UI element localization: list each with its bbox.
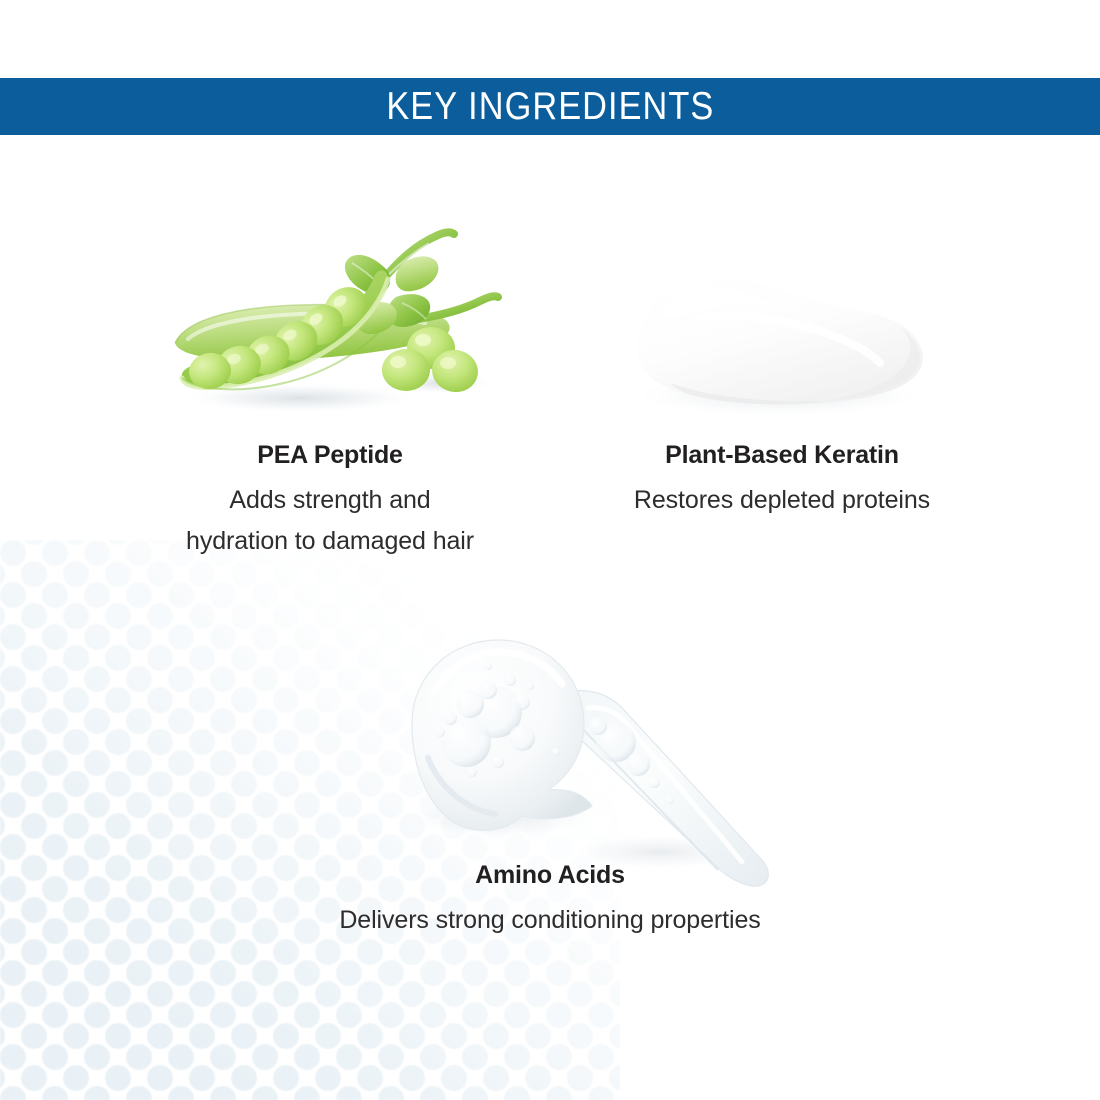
- pea-shadow-loose: [388, 372, 492, 394]
- gel-shadow: [405, 798, 595, 838]
- pea-pod-closed: [175, 305, 450, 361]
- ingredient-cell-amino-acids: Amino Acids Delivers strong conditioning…: [300, 860, 800, 941]
- ingredient-name-pea-peptide: PEA Peptide: [80, 440, 580, 470]
- gel-droplet: [412, 640, 592, 830]
- ingredient-name-plant-based-keratin: Plant-Based Keratin: [532, 440, 1032, 470]
- pea-seeds: [187, 279, 375, 392]
- gel-droplet-lower-shade: [428, 758, 496, 814]
- pea-stem-lower: [418, 296, 498, 319]
- pea-leaf-c: [388, 294, 431, 327]
- key-ingredients-infographic: KEY INGREDIENTS: [0, 0, 1100, 1100]
- cream-soft-edge-shade: [828, 327, 920, 401]
- ingredient-cell-plant-based-keratin: Plant-Based Keratin Restores depleted pr…: [532, 440, 1032, 521]
- pea-loose-seeds: [382, 327, 482, 396]
- gel-droplet-rimlight: [434, 652, 562, 692]
- page-title: KEY INGREDIENTS: [386, 87, 714, 126]
- ingredient-description-amino-acids: Delivers strong conditioning properties: [300, 900, 800, 941]
- cream-lower-shade: [670, 383, 826, 404]
- section-header-banner: KEY INGREDIENTS: [0, 78, 1100, 135]
- amino-acids-image: [370, 630, 810, 895]
- pea-pod-open-rim: [182, 279, 388, 388]
- pea-leaf-a: [345, 255, 390, 294]
- pea-pod-open: [182, 270, 388, 387]
- cream-highlight-ridge: [658, 287, 778, 318]
- pea-leaf-b: [396, 256, 439, 291]
- dot-pattern-decoration: [0, 540, 620, 1100]
- cream-shadow: [630, 373, 930, 417]
- ingredient-description-pea-peptide: Adds strength andhydration to damaged ha…: [80, 480, 580, 561]
- ingredient-name-amino-acids: Amino Acids: [300, 860, 800, 890]
- pea-shadow: [180, 383, 420, 413]
- plant-based-keratin-image: [600, 255, 950, 430]
- gel-streak: [551, 691, 768, 887]
- gel-bubbles: [435, 662, 674, 804]
- pea-stem-upper: [382, 232, 454, 281]
- ingredient-cell-pea-peptide: PEA Peptide Adds strength andhydration t…: [80, 440, 580, 561]
- pea-peptide-image: [150, 215, 540, 430]
- ingredient-description-plant-based-keratin: Restores depleted proteins: [532, 480, 1032, 521]
- pea-leaf-d: [356, 302, 397, 334]
- cream-inner-sheen: [696, 316, 880, 363]
- cream-swatch-body: [637, 277, 923, 405]
